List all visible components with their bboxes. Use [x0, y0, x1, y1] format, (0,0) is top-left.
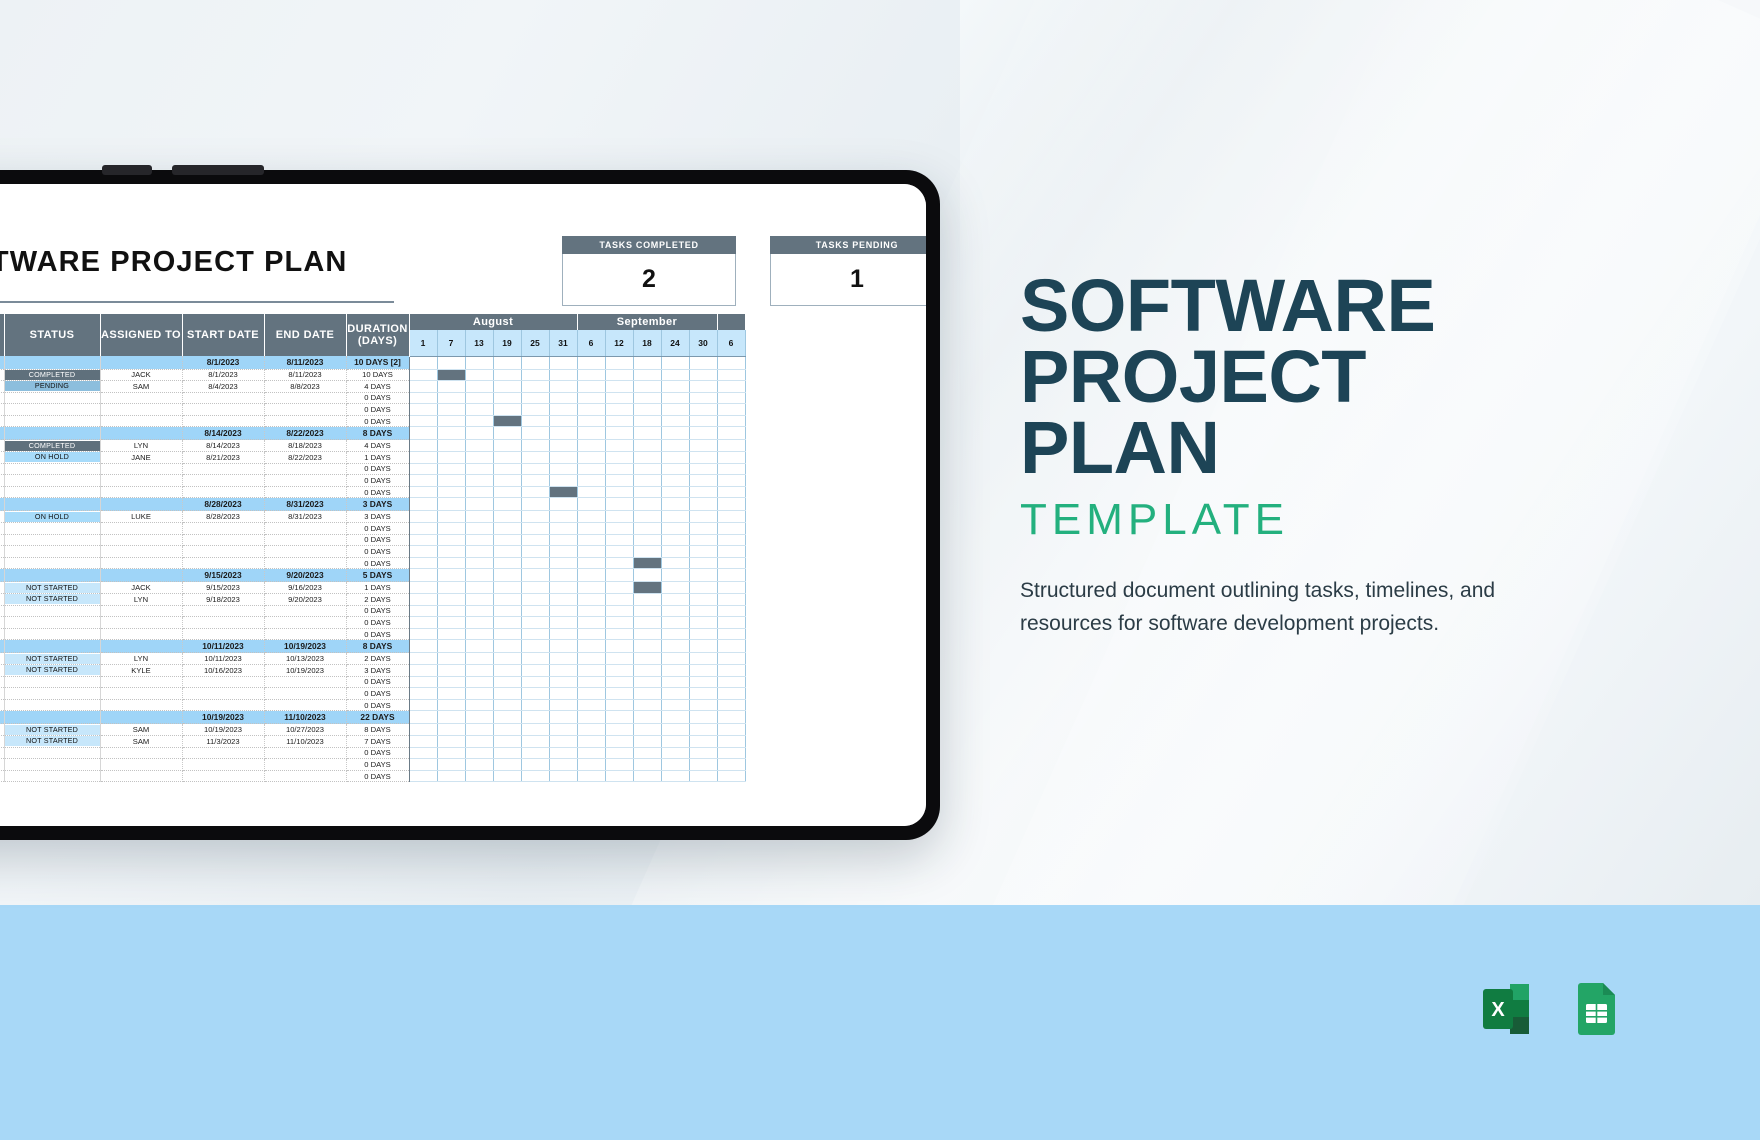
- gantt-cell: [437, 664, 465, 676]
- gantt-bar-cell: [437, 356, 465, 369]
- gantt-cell: [437, 546, 465, 558]
- gantt-cell: [493, 523, 521, 535]
- gantt-cell: [549, 557, 577, 569]
- cell-assigned-to: [100, 356, 182, 369]
- gantt-cell: [577, 498, 605, 511]
- gantt-cell: [689, 664, 717, 676]
- gantt-cell: [661, 569, 689, 582]
- table-section-row[interactable]: Phase 4: Testing9/15/20239/20/20235 DAYS: [0, 569, 745, 582]
- gantt-cell: [521, 369, 549, 381]
- gantt-cell: [549, 699, 577, 711]
- gantt-cell: [549, 511, 577, 523]
- cell-assigned-to: [100, 628, 182, 640]
- status-badge: NOT STARTED: [5, 736, 100, 746]
- timeline-month-september: September: [577, 314, 717, 330]
- gantt-cell: [577, 770, 605, 782]
- cell-duration: 0 DAYS: [346, 699, 409, 711]
- cell-status: NOT STARTED: [4, 664, 100, 676]
- gantt-cell: [717, 523, 745, 535]
- cell-start-date: 10/11/2023: [182, 640, 264, 653]
- timeline-day-25-4: 25: [521, 330, 549, 356]
- gantt-cell: [661, 475, 689, 487]
- gantt-cell: [717, 356, 745, 369]
- status-badge: NOT STARTED: [5, 654, 100, 664]
- table-row[interactable]: Requirements GatheringCOMPLETEDJACK8/1/2…: [0, 369, 745, 381]
- cell-start-date: 11/3/2023: [182, 735, 264, 747]
- gantt-cell: [633, 735, 661, 747]
- gantt-cell: [409, 605, 437, 617]
- gantt-cell: [605, 392, 633, 404]
- gantt-cell: [633, 523, 661, 535]
- gantt-cell: [549, 523, 577, 535]
- gantt-cell: [689, 463, 717, 475]
- gantt-cell: [661, 415, 689, 427]
- cell-duration: 0 DAYS: [346, 770, 409, 782]
- gantt-cell: [605, 770, 633, 782]
- table-row[interactable]: 0 DAYS: [0, 463, 745, 475]
- gantt-cell: [437, 498, 465, 511]
- gantt-cell: [661, 452, 689, 464]
- gantt-cell: [661, 498, 689, 511]
- gantt-cell: [437, 440, 465, 452]
- gantt-cell: [521, 381, 549, 393]
- gantt-cell: [605, 440, 633, 452]
- cell-start-date: [182, 699, 264, 711]
- cell-status: ON HOLD: [4, 452, 100, 464]
- column-header-duration-line2: (DAYS): [347, 335, 409, 347]
- gantt-bar-cell: [633, 557, 661, 569]
- gantt-cell: [661, 759, 689, 771]
- gantt-cell: [633, 759, 661, 771]
- stat-value-tasks-completed: 2: [562, 254, 736, 306]
- gantt-cell: [717, 653, 745, 665]
- google-sheets-icon[interactable]: [1570, 980, 1622, 1038]
- table-row[interactable]: 0 DAYS: [0, 688, 745, 700]
- gantt-cell: [661, 676, 689, 688]
- gantt-cell: [633, 440, 661, 452]
- timeline-day-18-8: 18: [633, 330, 661, 356]
- gantt-cell: [605, 594, 633, 606]
- table-row[interactable]: Bug FixingNOT STARTEDSAM10/19/202310/27/…: [0, 724, 745, 736]
- cell-status: [4, 546, 100, 558]
- column-header-end-date: END DATE: [264, 314, 346, 356]
- gantt-cell: [409, 452, 437, 464]
- gantt-cell: [437, 557, 465, 569]
- spreadsheet: SOFTWARE PROJECT PLAN TASKS COMPLETED 2 …: [0, 184, 926, 826]
- gantt-cell: [661, 605, 689, 617]
- cell-end-date: [264, 404, 346, 416]
- gantt-cell: [549, 569, 577, 582]
- gantt-cell: [493, 486, 521, 498]
- cell-duration: 0 DAYS: [346, 523, 409, 535]
- title-divider: [0, 301, 394, 303]
- cell-start-date: 9/15/2023: [182, 569, 264, 582]
- status-badge: ON HOLD: [5, 452, 100, 462]
- column-header-assigned-to: ASSIGNED TO: [100, 314, 182, 356]
- table-row[interactable]: Backend DevelopmentON HOLDLUKE8/28/20238…: [0, 511, 745, 523]
- gantt-cell: [661, 381, 689, 393]
- gantt-cell: [465, 605, 493, 617]
- gantt-cell: [661, 427, 689, 440]
- cell-assigned-to: [100, 523, 182, 535]
- cell-status: [4, 392, 100, 404]
- cell-end-date: 9/20/2023: [264, 594, 346, 606]
- table-row[interactable]: 0 DAYS: [0, 759, 745, 771]
- status-badge: NOT STARTED: [5, 583, 100, 593]
- gantt-cell: [633, 653, 661, 665]
- gantt-cell: [437, 511, 465, 523]
- cell-status: [4, 688, 100, 700]
- gantt-cell: [605, 463, 633, 475]
- table-row[interactable]: 0 DAYS: [0, 404, 745, 416]
- table-row[interactable]: 0 DAYS: [0, 534, 745, 546]
- cell-duration: 10 DAYS [2]: [346, 356, 409, 369]
- gantt-cell: [549, 676, 577, 688]
- gantt-cell: [465, 523, 493, 535]
- table-row[interactable]: 0 DAYS: [0, 475, 745, 487]
- gantt-cell: [493, 463, 521, 475]
- table-row[interactable]: 0 DAYS: [0, 747, 745, 759]
- cell-status: COMPLETED: [4, 369, 100, 381]
- cell-status: NOT STARTED: [4, 582, 100, 594]
- cell-assigned-to: SAM: [100, 735, 182, 747]
- gantt-cell: [605, 452, 633, 464]
- gantt-cell: [409, 594, 437, 606]
- cell-duration: 0 DAYS: [346, 605, 409, 617]
- device-notch-left: [102, 165, 152, 175]
- cell-status: [4, 628, 100, 640]
- table-section-row[interactable]: Phase 2: Design8/14/20238/22/20238 DAYS: [0, 427, 745, 440]
- cell-end-date: [264, 557, 346, 569]
- gantt-cell: [689, 534, 717, 546]
- gantt-cell: [521, 569, 549, 582]
- cell-duration: 2 DAYS: [346, 653, 409, 665]
- cell-assigned-to: [100, 557, 182, 569]
- cell-duration: 0 DAYS: [346, 546, 409, 558]
- panel-title-line-1: SOFTWARE: [1020, 270, 1660, 341]
- gantt-cell: [689, 392, 717, 404]
- gantt-cell: [465, 475, 493, 487]
- gantt-cell: [633, 498, 661, 511]
- table-row[interactable]: 0 DAYS: [0, 392, 745, 404]
- gantt-cell: [577, 640, 605, 653]
- gantt-cell: [437, 617, 465, 629]
- gantt-cell: [549, 463, 577, 475]
- gantt-cell: [465, 735, 493, 747]
- gantt-cell: [409, 711, 437, 724]
- gantt-cell: [661, 699, 689, 711]
- table-row[interactable]: User TrainingNOT STARTEDKYLE10/16/202310…: [0, 664, 745, 676]
- table-row[interactable]: 0 DAYS: [0, 486, 745, 498]
- gantt-cell: [633, 415, 661, 427]
- gantt-cell: [493, 381, 521, 393]
- table-row[interactable]: Deployment PreparationNOT STARTEDLYN10/1…: [0, 653, 745, 665]
- gantt-cell: [465, 557, 493, 569]
- gantt-bar-cell: [437, 369, 465, 381]
- gantt-cell: [577, 628, 605, 640]
- cell-duration: 0 DAYS: [346, 628, 409, 640]
- excel-icon[interactable]: X: [1480, 980, 1532, 1038]
- gantt-cell: [717, 582, 745, 594]
- timeline-day-31-5: 31: [549, 330, 577, 356]
- cell-duration: 4 DAYS: [346, 440, 409, 452]
- gantt-cell: [549, 711, 577, 724]
- table-row[interactable]: 0 DAYS: [0, 605, 745, 617]
- gantt-cell: [521, 653, 549, 665]
- gantt-cell: [661, 640, 689, 653]
- cell-assigned-to: [100, 699, 182, 711]
- timeline-day-13-2: 13: [465, 330, 493, 356]
- timeline-month-october: [717, 314, 745, 330]
- gantt-cell: [633, 594, 661, 606]
- gantt-cell: [605, 557, 633, 569]
- cell-duration: 0 DAYS: [346, 747, 409, 759]
- cell-start-date: [182, 557, 264, 569]
- gantt-cell: [437, 676, 465, 688]
- table-row[interactable]: Integration TestingNOT STARTEDLYN9/18/20…: [0, 594, 745, 606]
- gantt-cell: [661, 440, 689, 452]
- cell-duration: 4 DAYS: [346, 381, 409, 393]
- table-row[interactable]: UI/UX DesignON HOLDJANE8/21/20238/22/202…: [0, 452, 745, 464]
- gantt-cell: [577, 653, 605, 665]
- cell-end-date: 9/20/2023: [264, 569, 346, 582]
- gantt-cell: [661, 711, 689, 724]
- cell-end-date: 8/11/2023: [264, 369, 346, 381]
- gantt-cell: [605, 724, 633, 736]
- gantt-cell: [493, 546, 521, 558]
- gantt-cell: [689, 557, 717, 569]
- gantt-cell: [689, 404, 717, 416]
- gantt-cell: [661, 770, 689, 782]
- table-row[interactable]: Post-Implementation ReviewNOT STARTEDSAM…: [0, 735, 745, 747]
- gantt-cell: [633, 688, 661, 700]
- gantt-cell: [493, 557, 521, 569]
- table-row[interactable]: 0 DAYS: [0, 557, 745, 569]
- table-row[interactable]: System Architecture DesignCOMPLETEDLYN8/…: [0, 440, 745, 452]
- gantt-cell: [605, 605, 633, 617]
- gantt-cell: [717, 440, 745, 452]
- gantt-cell: [437, 486, 465, 498]
- table-row[interactable]: 0 DAYS: [0, 617, 745, 629]
- cell-start-date: [182, 605, 264, 617]
- cell-duration: 0 DAYS: [346, 463, 409, 475]
- gantt-cell: [605, 664, 633, 676]
- cell-duration: 22 DAYS: [346, 711, 409, 724]
- cell-assigned-to: [100, 475, 182, 487]
- gantt-bar-cell: [549, 486, 577, 498]
- project-plan-table: TASK STATUS ASSIGNED TO START DATE END D…: [0, 314, 746, 782]
- gantt-cell: [633, 711, 661, 724]
- gantt-cell: [633, 640, 661, 653]
- gantt-cell: [633, 569, 661, 582]
- cell-assigned-to: [100, 546, 182, 558]
- cell-start-date: [182, 688, 264, 700]
- gantt-cell: [437, 770, 465, 782]
- gantt-cell: [717, 605, 745, 617]
- gantt-cell: [521, 452, 549, 464]
- gantt-cell: [493, 534, 521, 546]
- table-row[interactable]: 0 DAYS: [0, 628, 745, 640]
- gantt-cell: [549, 653, 577, 665]
- gantt-cell: [633, 463, 661, 475]
- cell-status: [4, 711, 100, 724]
- panel-title: SOFTWARE PROJECT PLAN: [1020, 270, 1660, 483]
- table-section-row[interactable]: Phase 6: Maintenance and Review:10/19/20…: [0, 711, 745, 724]
- cell-start-date: [182, 546, 264, 558]
- gantt-cell: [521, 699, 549, 711]
- gantt-cell: [717, 676, 745, 688]
- table-section-row[interactable]: Phase 3: Development8/28/20238/31/20233 …: [0, 498, 745, 511]
- gantt-cell: [661, 392, 689, 404]
- table-row[interactable]: 0 DAYS: [0, 770, 745, 782]
- table-section-row[interactable]: Phase 1: Planning [1]8/1/20238/11/202310…: [0, 356, 745, 369]
- gantt-cell: [493, 617, 521, 629]
- gantt-cell: [409, 523, 437, 535]
- gantt-cell: [521, 759, 549, 771]
- gantt-cell: [689, 770, 717, 782]
- cell-assigned-to: KYLE: [100, 664, 182, 676]
- gantt-cell: [689, 498, 717, 511]
- table-row[interactable]: 0 DAYS: [0, 676, 745, 688]
- cell-assigned-to: [100, 770, 182, 782]
- cell-start-date: [182, 747, 264, 759]
- column-header-start-date: START DATE: [182, 314, 264, 356]
- gantt-cell: [549, 594, 577, 606]
- gantt-cell: [493, 427, 521, 440]
- cell-start-date: 8/14/2023: [182, 427, 264, 440]
- gantt-cell: [605, 582, 633, 594]
- gantt-cell: [717, 498, 745, 511]
- gantt-cell: [521, 735, 549, 747]
- gantt-cell: [577, 557, 605, 569]
- gantt-cell: [633, 486, 661, 498]
- gantt-cell: [633, 546, 661, 558]
- gantt-cell: [437, 523, 465, 535]
- cell-start-date: 8/4/2023: [182, 381, 264, 393]
- cell-status: NOT STARTED: [4, 724, 100, 736]
- cell-assigned-to: LYN: [100, 653, 182, 665]
- column-header-duration: DURATION (DAYS): [346, 314, 409, 356]
- gantt-cell: [633, 427, 661, 440]
- gantt-cell: [661, 617, 689, 629]
- gantt-cell: [409, 688, 437, 700]
- gantt-cell: [717, 759, 745, 771]
- gantt-cell: [493, 475, 521, 487]
- gantt-cell: [717, 511, 745, 523]
- gantt-cell: [717, 664, 745, 676]
- gantt-cell: [409, 392, 437, 404]
- gantt-cell: [409, 770, 437, 782]
- cell-duration: 0 DAYS: [346, 557, 409, 569]
- gantt-cell: [717, 699, 745, 711]
- cell-end-date: [264, 463, 346, 475]
- gantt-cell: [661, 724, 689, 736]
- gantt-cell: [717, 427, 745, 440]
- cell-end-date: 9/16/2023: [264, 582, 346, 594]
- gantt-cell: [577, 404, 605, 416]
- gantt-cell: [605, 381, 633, 393]
- cell-start-date: [182, 617, 264, 629]
- gantt-cell: [633, 724, 661, 736]
- cell-assigned-to: LUKE: [100, 511, 182, 523]
- gantt-cell: [549, 582, 577, 594]
- cell-end-date: [264, 486, 346, 498]
- gantt-cell: [661, 523, 689, 535]
- cell-start-date: [182, 404, 264, 416]
- cell-duration: 1 DAYS: [346, 582, 409, 594]
- cell-status: [4, 463, 100, 475]
- gantt-cell: [633, 452, 661, 464]
- gantt-cell: [689, 452, 717, 464]
- gantt-cell: [549, 534, 577, 546]
- cell-assigned-to: [100, 486, 182, 498]
- table-row[interactable]: 0 DAYS: [0, 415, 745, 427]
- gantt-cell: [689, 440, 717, 452]
- gantt-cell: [437, 747, 465, 759]
- table-row[interactable]: Unit TestingNOT STARTEDJACK9/15/20239/16…: [0, 582, 745, 594]
- cell-assigned-to: [100, 605, 182, 617]
- gantt-cell: [549, 605, 577, 617]
- table-row[interactable]: 0 DAYS: [0, 699, 745, 711]
- table-section-row[interactable]: Phase 5: Deployment and Training:10/11/2…: [0, 640, 745, 653]
- gantt-cell: [689, 628, 717, 640]
- cell-assigned-to: [100, 392, 182, 404]
- cell-duration: 3 DAYS: [346, 498, 409, 511]
- cell-end-date: 8/11/2023: [264, 356, 346, 369]
- gantt-cell: [521, 628, 549, 640]
- cell-assigned-to: [100, 463, 182, 475]
- gantt-cell: [661, 404, 689, 416]
- cell-start-date: 8/28/2023: [182, 498, 264, 511]
- gantt-cell: [689, 486, 717, 498]
- gantt-cell: [437, 415, 465, 427]
- status-badge: NOT STARTED: [5, 665, 100, 675]
- gantt-cell: [465, 676, 493, 688]
- gantt-cell: [577, 688, 605, 700]
- gantt-cell: [577, 724, 605, 736]
- gantt-cell: [577, 676, 605, 688]
- gantt-cell: [409, 381, 437, 393]
- marketing-panel: SOFTWARE PROJECT PLAN TEMPLATE Structure…: [1020, 270, 1660, 640]
- gantt-cell: [521, 557, 549, 569]
- gantt-cell: [633, 747, 661, 759]
- cell-status: [4, 617, 100, 629]
- gantt-cell: [437, 404, 465, 416]
- table-row[interactable]: 0 DAYS: [0, 546, 745, 558]
- gantt-cell: [689, 711, 717, 724]
- cell-status: [4, 534, 100, 546]
- gantt-cell: [633, 617, 661, 629]
- gantt-cell: [409, 415, 437, 427]
- table-row[interactable]: 0 DAYS: [0, 523, 745, 535]
- gantt-cell: [409, 557, 437, 569]
- cell-status: NOT STARTED: [4, 594, 100, 606]
- gantt-cell: [521, 392, 549, 404]
- cell-duration: 3 DAYS: [346, 511, 409, 523]
- gantt-cell: [549, 628, 577, 640]
- stat-value-tasks-pending: 1: [770, 254, 926, 306]
- cell-duration: 1 DAYS: [346, 452, 409, 464]
- cell-duration: 0 DAYS: [346, 676, 409, 688]
- gantt-cell: [689, 688, 717, 700]
- gantt-cell: [605, 427, 633, 440]
- panel-title-line-2: PROJECT: [1020, 341, 1660, 412]
- gantt-cell: [577, 369, 605, 381]
- gantt-cell: [521, 688, 549, 700]
- gantt-cell: [549, 452, 577, 464]
- table-row[interactable]: Feasibility AnalysisPENDINGSAM8/4/20238/…: [0, 381, 745, 393]
- cell-assigned-to: [100, 640, 182, 653]
